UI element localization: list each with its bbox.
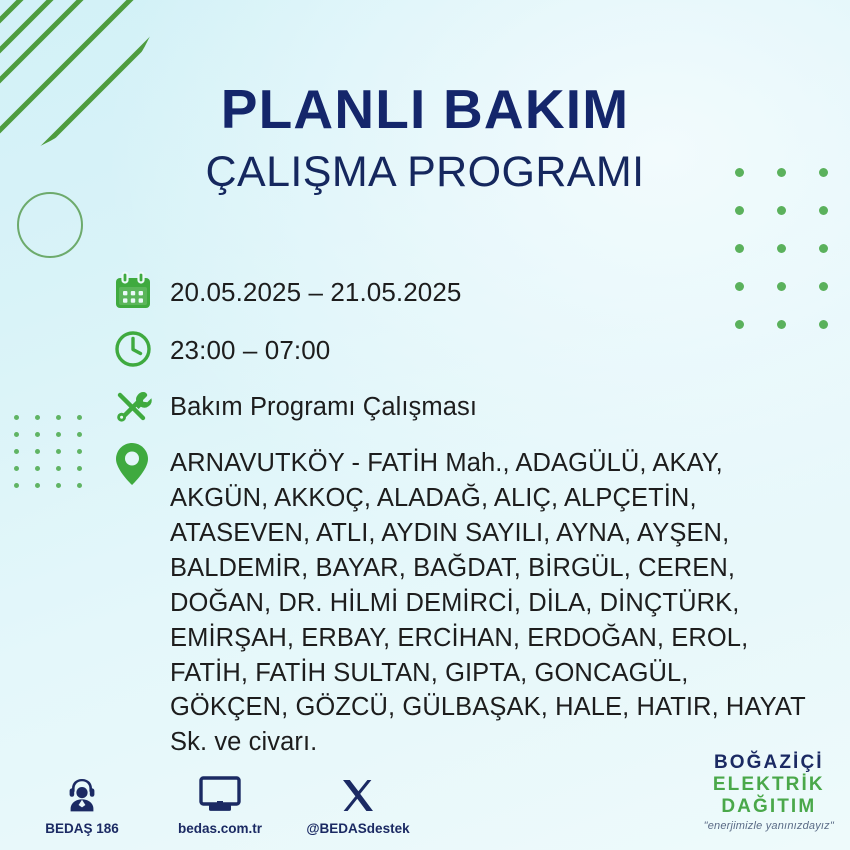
footer-item-call-center[interactable]: BEDAŞ 186 bbox=[30, 771, 134, 836]
tools-icon bbox=[112, 382, 170, 432]
x-twitter-icon bbox=[306, 771, 410, 815]
brand-logo-tagline: "enerjimizle yanınızdayız" bbox=[704, 821, 834, 832]
brand-logo-line2: ELEKTRİK bbox=[704, 775, 834, 794]
dot-grid-left-decoration bbox=[14, 415, 98, 500]
page-title: PLANLI BAKIM bbox=[0, 82, 850, 137]
calendar-icon bbox=[112, 266, 170, 316]
poster-header: PLANLI BAKIM ÇALIŞMA PROGRAMI bbox=[0, 82, 850, 194]
info-list: 20.05.2025 – 21.05.2025 23:00 – 07:00 bbox=[112, 266, 810, 760]
footer-label-x-social: @BEDASdestek bbox=[306, 821, 410, 836]
call-center-agent-icon bbox=[30, 771, 134, 815]
info-row-area: ARNAVUTKÖY - FATİH Mah., ADAGÜLÜ, AKAY, … bbox=[112, 442, 810, 760]
time-range-text: 23:00 – 07:00 bbox=[170, 324, 330, 367]
brand-logo-line3: DAĞITIM bbox=[704, 797, 834, 816]
affected-area-text: ARNAVUTKÖY - FATİH Mah., ADAGÜLÜ, AKAY, … bbox=[170, 442, 810, 760]
brand-logo-line1: BOĞAZİÇİ bbox=[704, 753, 834, 772]
brand-logo: BOĞAZİÇİ ELEKTRİK DAĞITIM "enerjimizle y… bbox=[704, 753, 834, 832]
page-subtitle: ÇALIŞMA PROGRAMI bbox=[0, 151, 850, 194]
monitor-icon bbox=[168, 771, 272, 815]
info-row-time: 23:00 – 07:00 bbox=[112, 324, 810, 374]
clock-icon bbox=[112, 324, 170, 374]
date-range-text: 20.05.2025 – 21.05.2025 bbox=[170, 266, 461, 309]
info-row-work-type: Bakım Programı Çalışması bbox=[112, 382, 810, 432]
circle-outline-decoration bbox=[17, 192, 83, 258]
location-pin-icon bbox=[112, 442, 170, 486]
footer-label-website: bedas.com.tr bbox=[168, 821, 272, 836]
poster-canvas: PLANLI BAKIM ÇALIŞMA PROGRAMI bbox=[0, 0, 850, 850]
work-type-text: Bakım Programı Çalışması bbox=[170, 382, 477, 425]
info-row-date: 20.05.2025 – 21.05.2025 bbox=[112, 266, 810, 316]
footer-label-call-center: BEDAŞ 186 bbox=[30, 821, 134, 836]
footer-item-website[interactable]: bedas.com.tr bbox=[168, 771, 272, 836]
footer-item-x-social[interactable]: @BEDASdestek bbox=[306, 771, 410, 836]
footer-contact-links: BEDAŞ 186 bedas.com.tr @BEDASdestek bbox=[30, 771, 410, 836]
